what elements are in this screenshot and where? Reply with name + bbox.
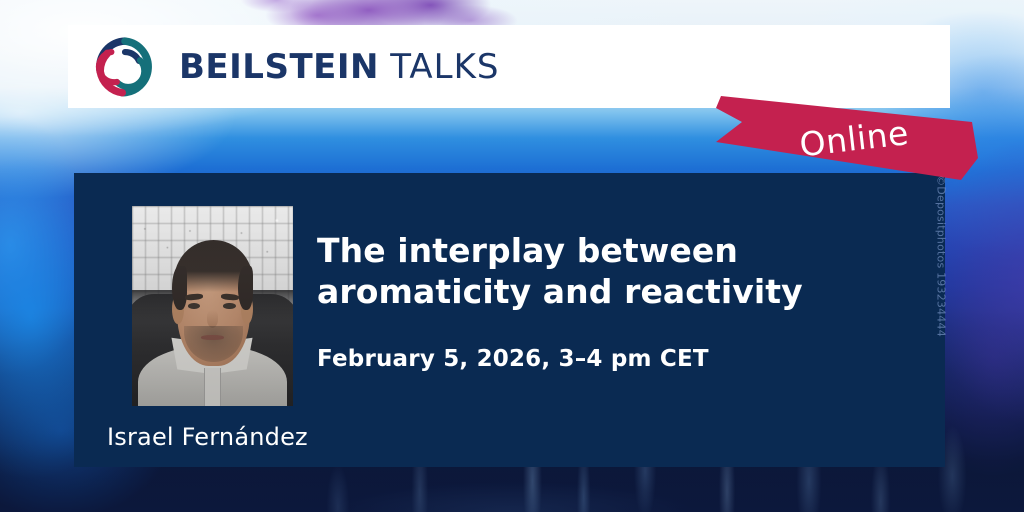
beilstein-talks-wordmark: BEILSTEIN TALKS <box>179 50 500 84</box>
online-badge: Online <box>716 96 978 180</box>
talk-title: The interplay between aromaticity and re… <box>317 231 917 313</box>
talk-date: February 5, 2026, 3–4 pm CET <box>317 346 709 372</box>
speaker-photo <box>132 206 293 406</box>
speaker-photo-image <box>132 206 293 406</box>
stock-photo-watermark: ©Depositphotos 193234444 <box>935 175 948 337</box>
talk-content-panel: The interplay between aromaticity and re… <box>74 173 945 467</box>
beilstein-spiral-logo-icon <box>91 33 159 101</box>
wordmark-beilstein: BEILSTEIN <box>179 47 379 87</box>
watermark-text: ©Depositphotos 193234444 <box>935 175 948 337</box>
beilstein-talks-poster: BEILSTEIN TALKS Online <box>0 0 1024 512</box>
wordmark-talks: TALKS <box>390 47 499 87</box>
speaker-name: Israel Fernández <box>107 423 308 451</box>
photo-color-grade <box>132 206 293 406</box>
